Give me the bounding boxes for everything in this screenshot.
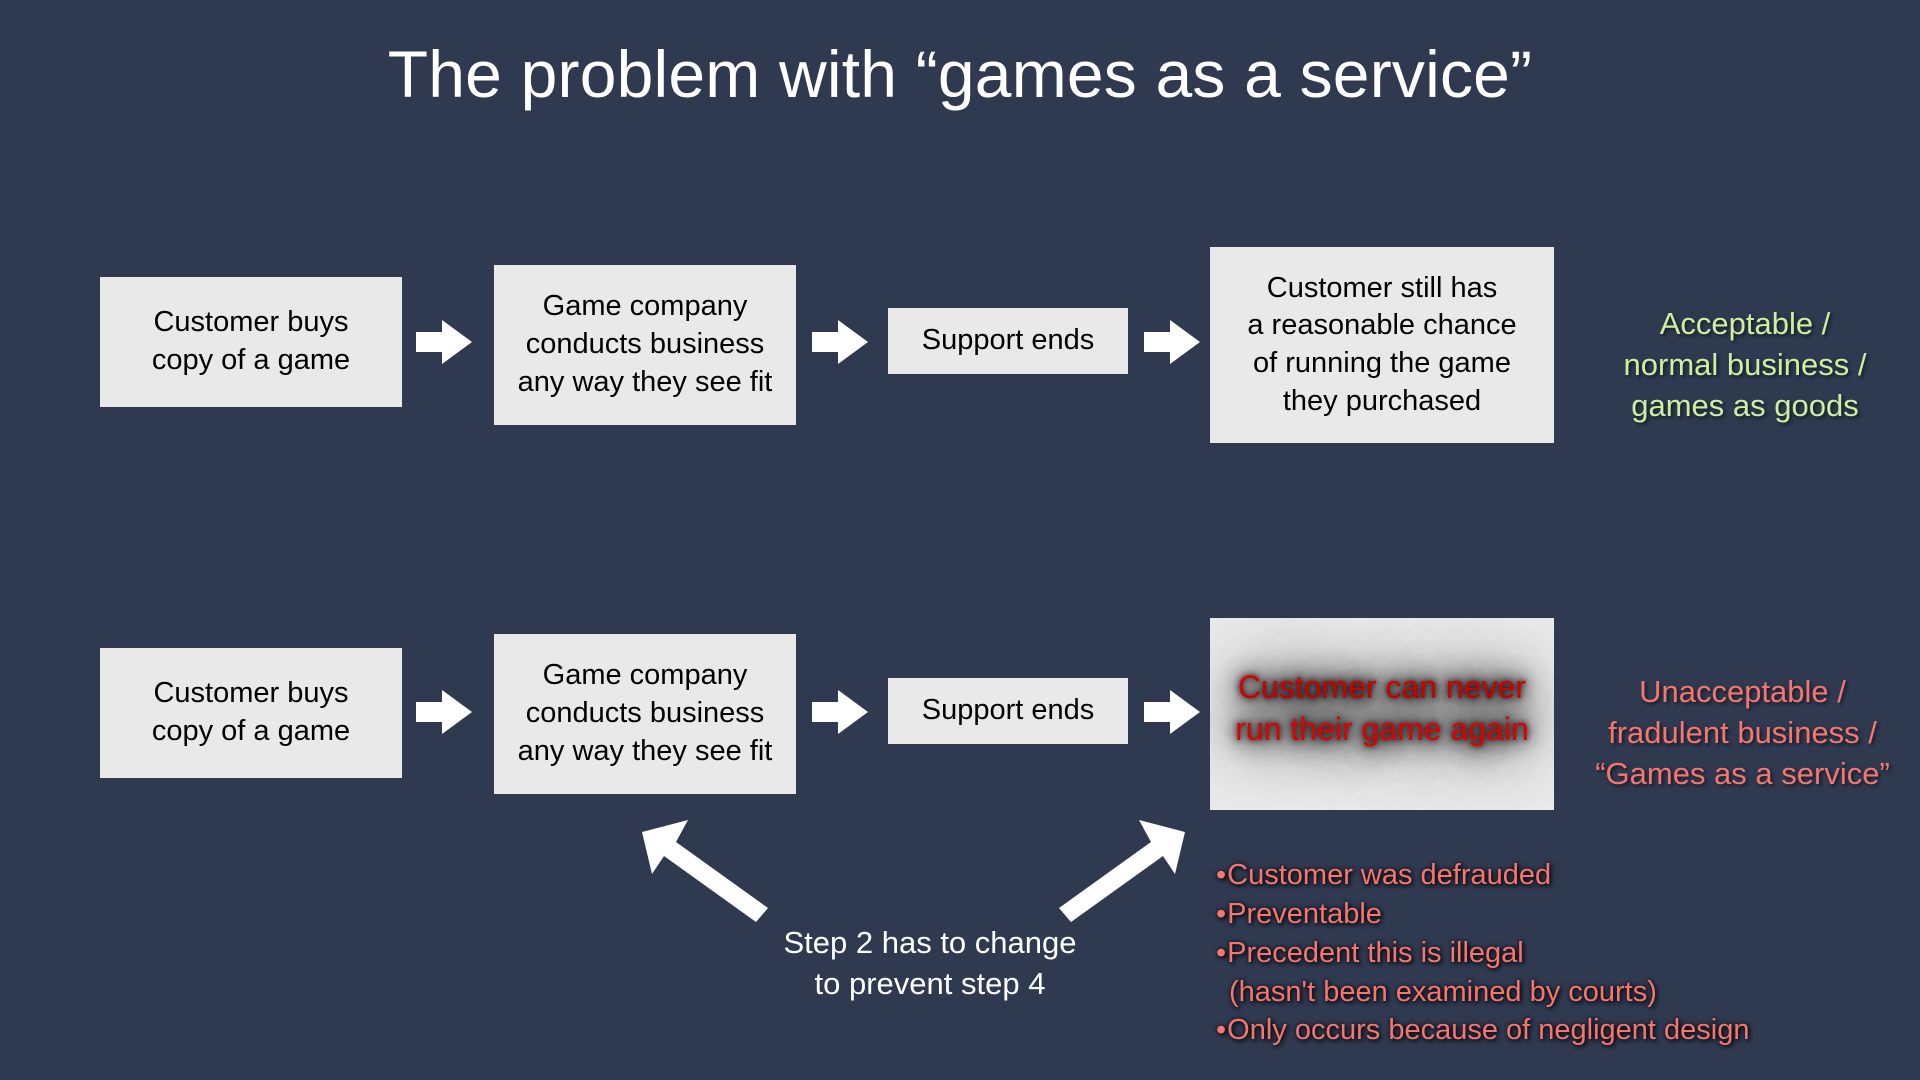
flow-box-customer-buys-bottom: Customer buyscopy of a game [100, 648, 402, 778]
flow-box-label: Customer still hasa reasonable chanceof … [1247, 270, 1516, 421]
bullet-icon: • [1216, 898, 1226, 930]
flow-box-label: Support ends [922, 322, 1095, 360]
verdict-acceptable: Acceptable /normal business /games as go… [1580, 303, 1910, 427]
arrow-right-icon [416, 320, 472, 364]
arrow-head [838, 690, 868, 734]
bullet-icon: • [1216, 1014, 1226, 1046]
arrow-up-left-icon [640, 812, 772, 922]
arrow-head [442, 320, 472, 364]
list-item: •Customer was defrauded [1216, 856, 1916, 895]
flow-box-label: Support ends [922, 692, 1095, 730]
page-title: The problem with “games as a service” [0, 38, 1920, 111]
arrow-up-right-icon [1055, 812, 1187, 922]
arrow-right-icon [812, 690, 868, 734]
list-item: •Precedent this is illegal [1216, 934, 1916, 973]
flow-box-support-ends-bottom: Support ends [888, 678, 1128, 744]
list-item: •Preventable [1216, 895, 1916, 934]
arrow-head [1170, 690, 1200, 734]
list-item-label: Only occurs because of negligent design [1227, 1014, 1749, 1046]
arrow-head [442, 690, 472, 734]
flow-box-label: Customer buyscopy of a game [152, 304, 350, 379]
flow-box-label: Customer buyscopy of a game [152, 675, 350, 750]
flow-box-game-company-bottom: Game companyconducts businessany way the… [494, 634, 796, 794]
consequences-list: •Customer was defrauded •Preventable •Pr… [1216, 856, 1916, 1050]
flow-box-support-ends-top: Support ends [888, 308, 1128, 374]
arrow-right-icon [1144, 690, 1200, 734]
list-item-label: Customer was defrauded [1227, 859, 1551, 891]
flow-box-outcome-bottom: Customer can neverrun their game again [1210, 618, 1554, 810]
arrow-head [838, 320, 868, 364]
step-change-caption: Step 2 has to changeto prevent step 4 [700, 923, 1160, 1005]
flow-box-game-company-top: Game companyconducts businessany way the… [494, 265, 796, 425]
flow-box-customer-buys-top: Customer buyscopy of a game [100, 277, 402, 407]
verdict-unacceptable: Unacceptable /fradulent business /“Games… [1570, 671, 1915, 795]
redacted-warning-label: Customer can neverrun their game again [1210, 666, 1554, 750]
flow-box-label: Game companyconducts businessany way the… [518, 657, 773, 770]
arrow-right-icon [416, 690, 472, 734]
arrow-right-icon [812, 320, 868, 364]
list-item-label: Precedent this is illegal [1227, 937, 1524, 969]
bullet-icon: • [1216, 937, 1226, 969]
list-item: •Only occurs because of negligent design [1216, 1011, 1916, 1050]
list-item-label: Preventable [1227, 898, 1382, 930]
flow-box-label: Game companyconducts businessany way the… [518, 288, 773, 401]
flow-box-outcome-top: Customer still hasa reasonable chanceof … [1210, 247, 1554, 443]
arrow-head [1170, 320, 1200, 364]
list-item-continuation: (hasn't been examined by courts) [1216, 973, 1916, 1012]
bullet-icon: • [1216, 859, 1226, 891]
arrow-right-icon [1144, 320, 1200, 364]
slide-canvas: The problem with “games as a service” Cu… [0, 0, 1920, 1080]
